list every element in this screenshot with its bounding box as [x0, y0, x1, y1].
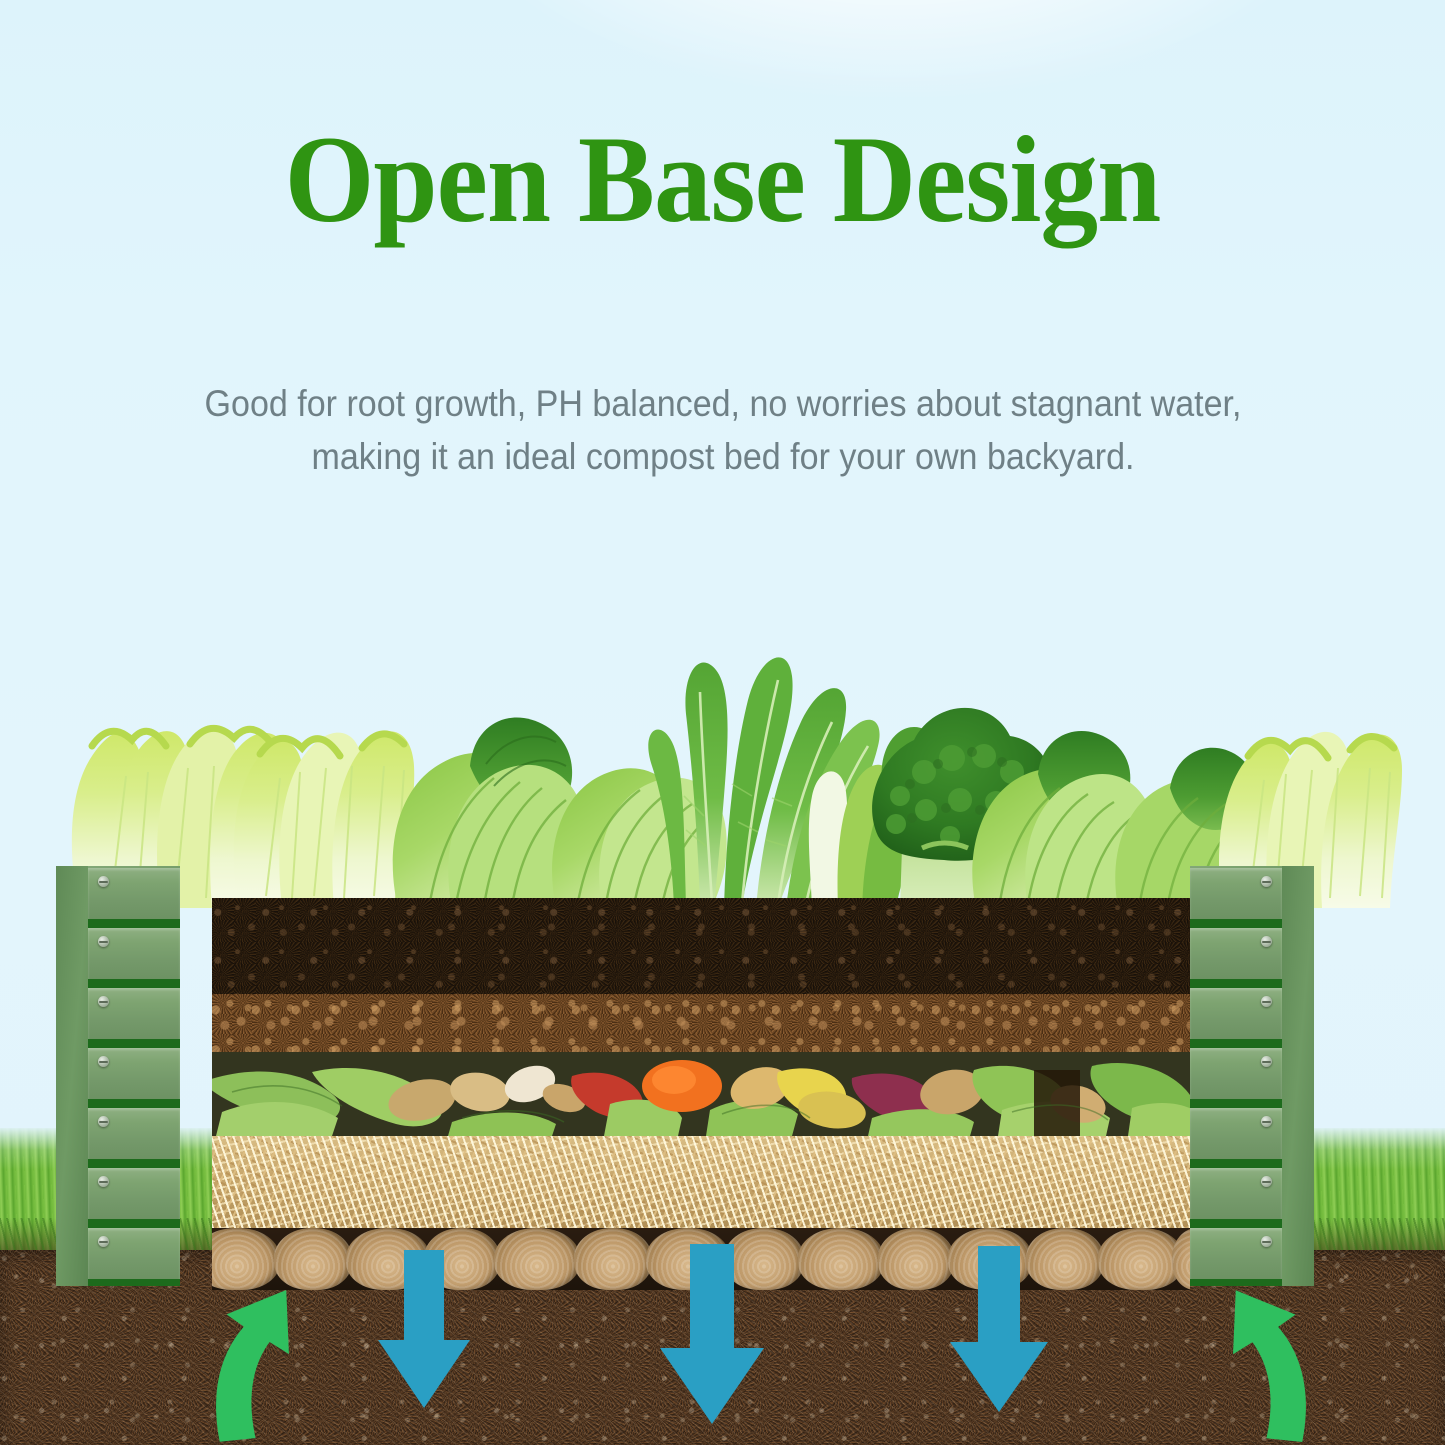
promo-image-stage: Open Base Design Good for root growth, P…: [0, 0, 1445, 1445]
screw-icon: [98, 1116, 109, 1127]
arrow-down-2: [660, 1244, 764, 1424]
vegetable-row: [0, 596, 1445, 908]
page-title: Open Base Design: [51, 118, 1395, 242]
screw-icon: [1261, 876, 1272, 887]
left-corner-post[interactable]: [56, 866, 180, 1286]
screw-icon: [1261, 1176, 1272, 1187]
arrow-up-right: [1221, 1290, 1318, 1442]
screw-icon: [1261, 996, 1272, 1007]
screw-icon: [98, 996, 109, 1007]
screw-icon: [98, 1236, 109, 1247]
arrow-down-3: [950, 1246, 1048, 1412]
layer-food-scraps: [212, 1052, 1190, 1136]
layer-topsoil: [212, 898, 1190, 994]
screw-icon: [1261, 1116, 1272, 1127]
screw-icon: [98, 876, 109, 887]
page-subtitle: Good for root growth, PH balanced, no wo…: [69, 378, 1375, 483]
screw-icon: [98, 1056, 109, 1067]
screw-icon: [98, 1176, 109, 1187]
right-post-edge: [1282, 866, 1314, 1286]
screw-icon: [1261, 1056, 1272, 1067]
food-scraps-illustration: [212, 1052, 1190, 1136]
arrow-down-1: [378, 1250, 470, 1408]
screw-icon: [1261, 1236, 1272, 1247]
plant-napa-cabbage-2: [234, 731, 414, 908]
right-post-face: [1190, 866, 1282, 1286]
left-post-edge: [56, 866, 88, 1286]
screw-icon: [98, 936, 109, 947]
right-corner-post[interactable]: [1190, 866, 1314, 1286]
layer-straw: [212, 1136, 1190, 1228]
screw-icon: [1261, 936, 1272, 947]
layer-compost: [212, 994, 1190, 1052]
vegetables-illustration: [0, 596, 1445, 908]
left-post-face: [88, 866, 180, 1286]
arrow-up-left: [204, 1290, 301, 1442]
